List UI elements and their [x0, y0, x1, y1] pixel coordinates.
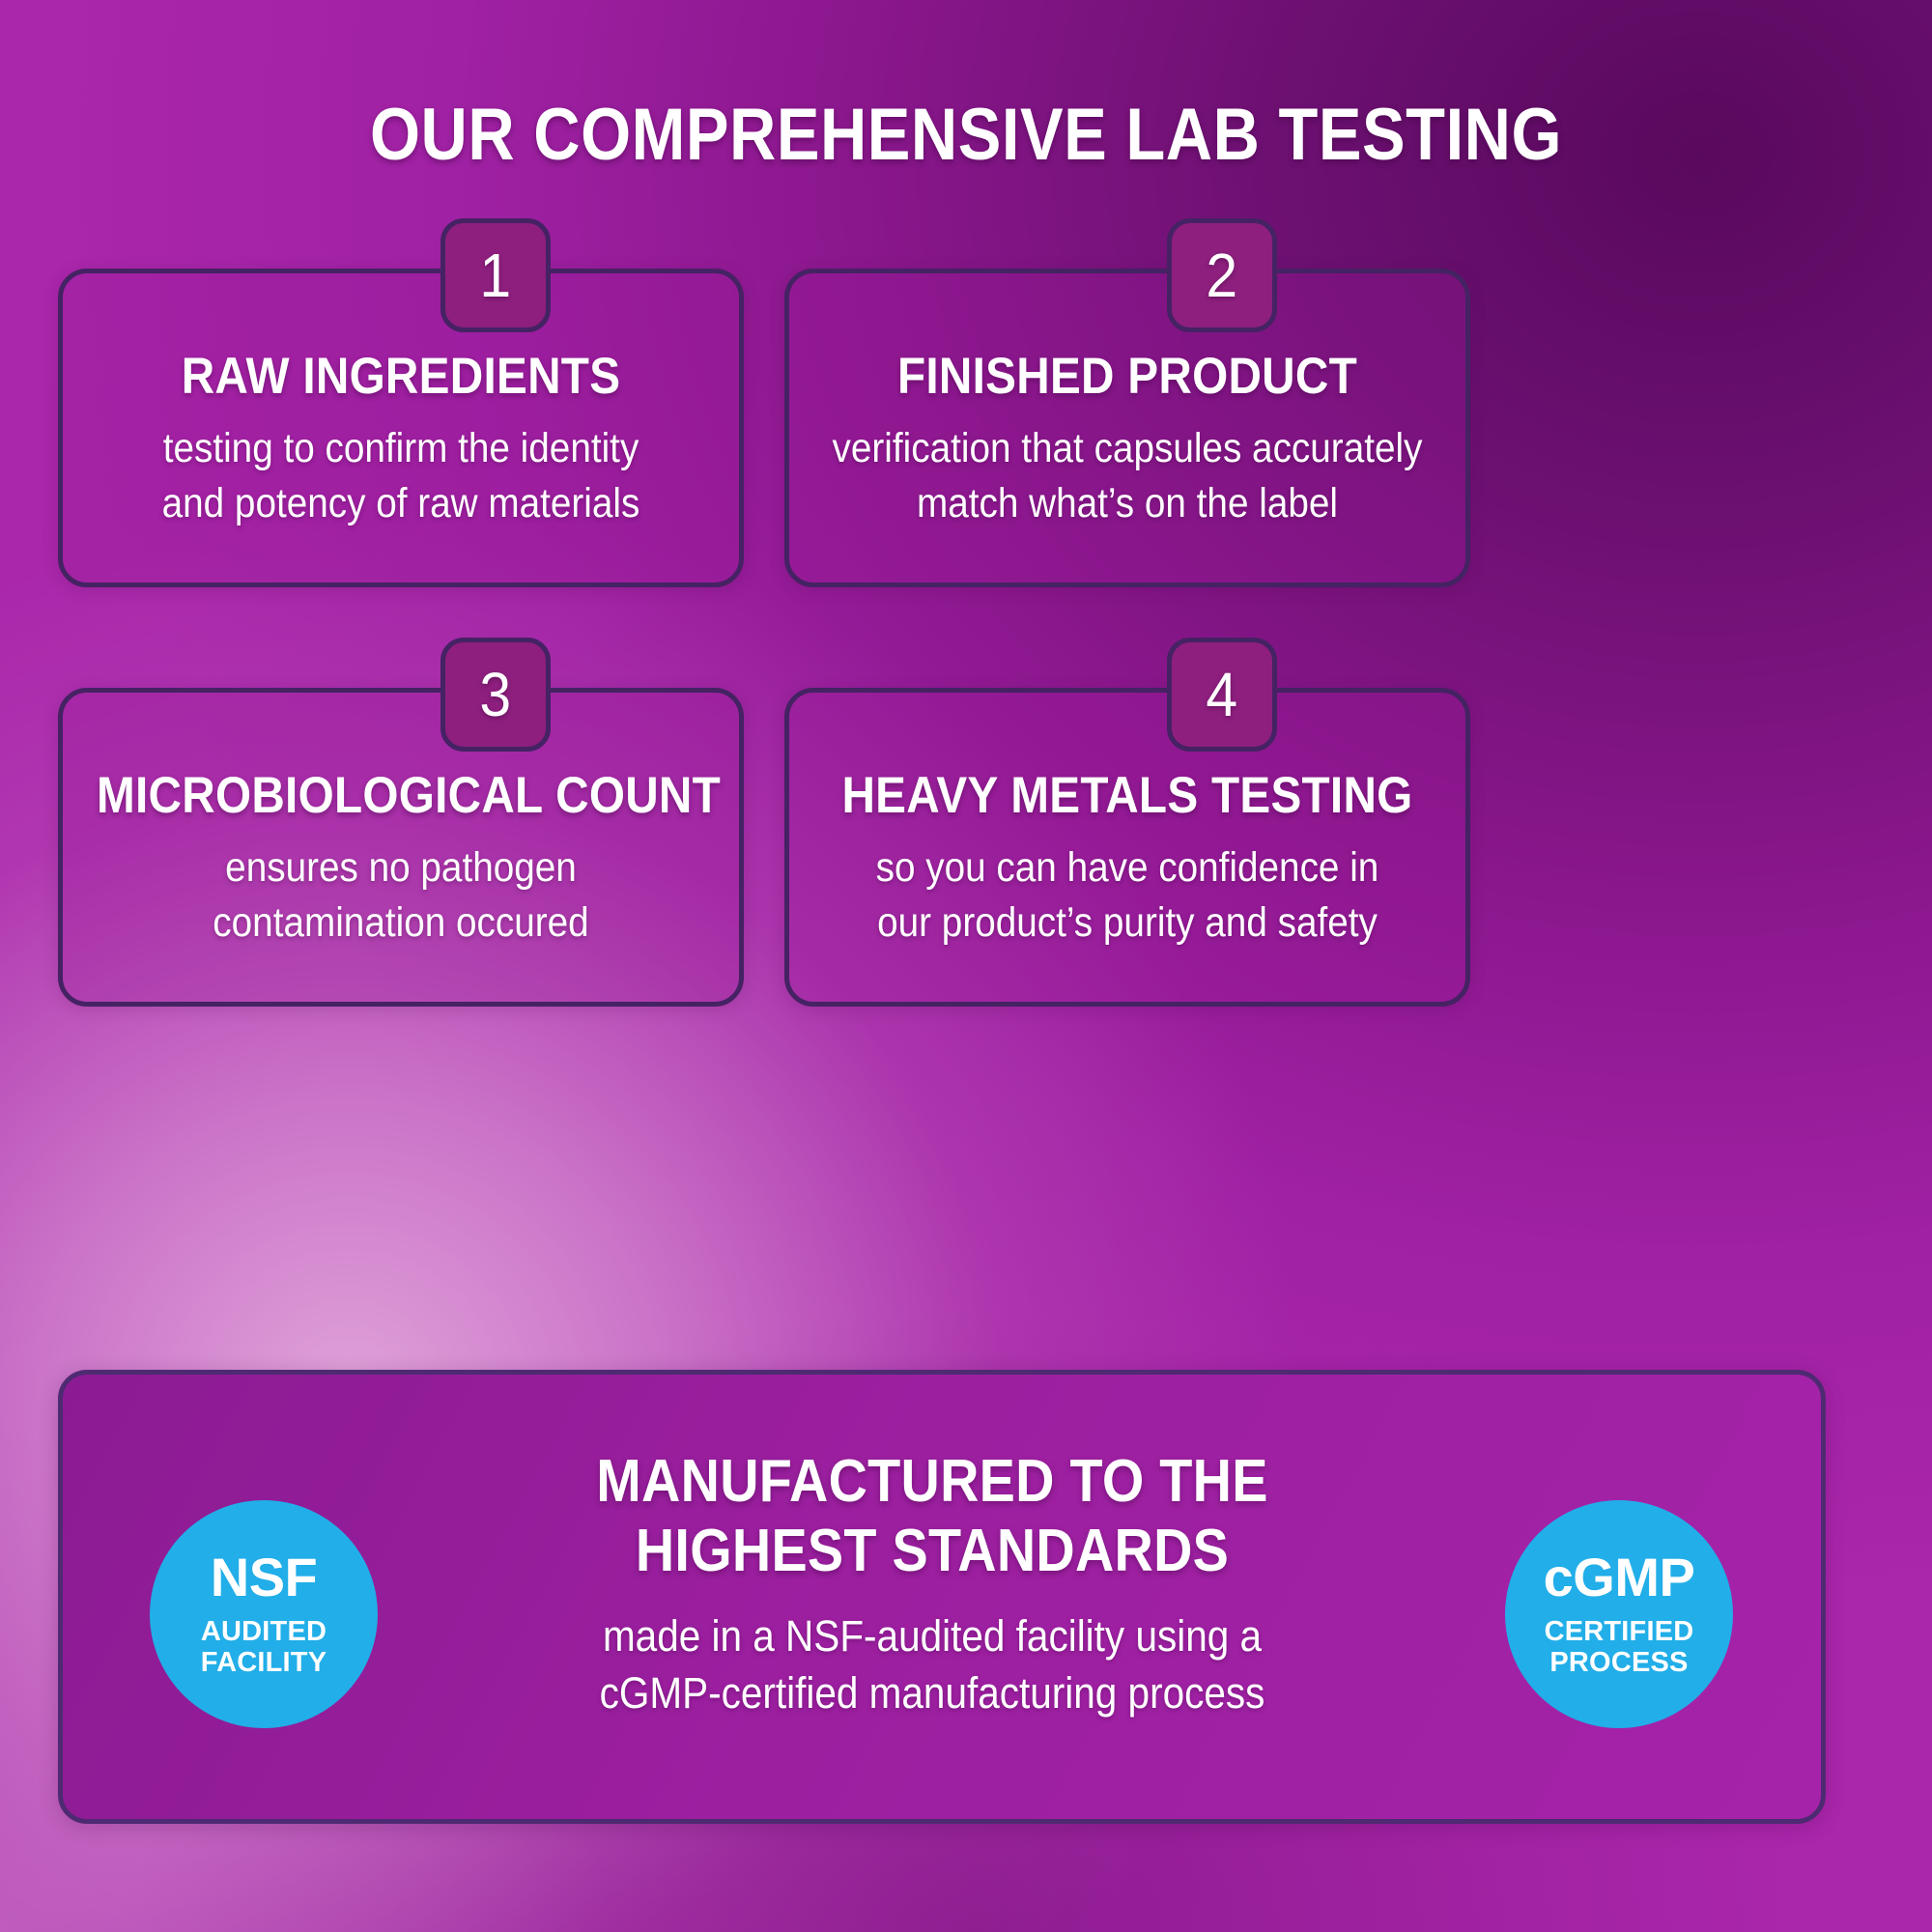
panel-description-line: cGMP-certified manufacturing process: [441, 1664, 1424, 1721]
panel-heading-line: MANUFACTURED TO THE: [441, 1447, 1424, 1517]
cgmp-badge-subtitle: CERTIFIED PROCESS: [1545, 1616, 1694, 1679]
card-heading: FINISHED PRODUCT: [823, 347, 1432, 406]
card-heading: RAW INGREDIENTS: [97, 347, 705, 406]
card-content: MICROBIOLOGICAL COUNT ensures no pathoge…: [63, 693, 739, 951]
card-description-line: contamination occured: [97, 895, 705, 951]
nsf-badge-title: NSF: [211, 1550, 318, 1605]
lab-test-card-raw-ingredients: RAW INGREDIENTS testing to confirm the i…: [58, 269, 744, 587]
card-description-line: our product’s purity and safety: [823, 895, 1432, 951]
nsf-badge-subtitle-line: FACILITY: [201, 1647, 327, 1678]
nsf-audited-facility-badge: NSF AUDITED FACILITY: [150, 1500, 378, 1728]
lab-test-card-finished-product: FINISHED PRODUCT verification that capsu…: [784, 269, 1470, 587]
card-description-line: testing to confirm the identity: [97, 421, 705, 476]
panel-description: made in a NSF-audited facility using a c…: [441, 1607, 1424, 1722]
cgmp-certified-process-badge: cGMP CERTIFIED PROCESS: [1505, 1500, 1733, 1728]
card-description: so you can have confidence in our produc…: [823, 840, 1432, 951]
lab-test-card-microbiological-count: MICROBIOLOGICAL COUNT ensures no pathoge…: [58, 688, 744, 1007]
card-description: verification that capsules accurately ma…: [823, 421, 1432, 531]
card-description: testing to confirm the identity and pote…: [97, 421, 705, 531]
card-description-line: and potency of raw materials: [97, 476, 705, 531]
cgmp-badge-subtitle-line: PROCESS: [1545, 1647, 1694, 1678]
step-number-badge-3: 3: [440, 638, 551, 752]
manufacturing-standards-text: MANUFACTURED TO THE HIGHEST STANDARDS ma…: [386, 1447, 1478, 1722]
panel-description-line: made in a NSF-audited facility using a: [441, 1607, 1424, 1664]
panel-heading: MANUFACTURED TO THE HIGHEST STANDARDS: [441, 1447, 1424, 1586]
step-number-label: 3: [480, 664, 512, 725]
nsf-badge-subtitle-line: AUDITED: [201, 1616, 327, 1647]
card-description-line: ensures no pathogen: [97, 840, 705, 895]
card-content: FINISHED PRODUCT verification that capsu…: [789, 273, 1465, 531]
panel-heading-line: HIGHEST STANDARDS: [441, 1517, 1424, 1586]
step-number-label: 2: [1207, 244, 1238, 306]
step-number-badge-4: 4: [1167, 638, 1277, 752]
step-number-badge-2: 2: [1167, 218, 1277, 332]
page-title: OUR COMPREHENSIVE LAB TESTING: [116, 93, 1816, 177]
card-description-line: verification that capsules accurately: [823, 421, 1432, 476]
lab-test-card-heavy-metals-testing: HEAVY METALS TESTING so you can have con…: [784, 688, 1470, 1007]
cgmp-badge-subtitle-line: CERTIFIED: [1545, 1616, 1694, 1647]
card-heading: HEAVY METALS TESTING: [823, 766, 1432, 825]
step-number-label: 4: [1207, 664, 1238, 725]
card-content: HEAVY METALS TESTING so you can have con…: [789, 693, 1465, 951]
cgmp-badge-title: cGMP: [1544, 1550, 1695, 1605]
step-number-label: 1: [480, 244, 512, 306]
nsf-badge-subtitle: AUDITED FACILITY: [201, 1616, 327, 1679]
card-description-line: match what’s on the label: [823, 476, 1432, 531]
step-number-badge-1: 1: [440, 218, 551, 332]
card-content: RAW INGREDIENTS testing to confirm the i…: [63, 273, 739, 531]
infographic-canvas: OUR COMPREHENSIVE LAB TESTING RAW INGRED…: [0, 0, 1932, 1932]
card-heading: MICROBIOLOGICAL COUNT: [97, 766, 705, 825]
card-description-line: so you can have confidence in: [823, 840, 1432, 895]
card-description: ensures no pathogen contamination occure…: [97, 840, 705, 951]
